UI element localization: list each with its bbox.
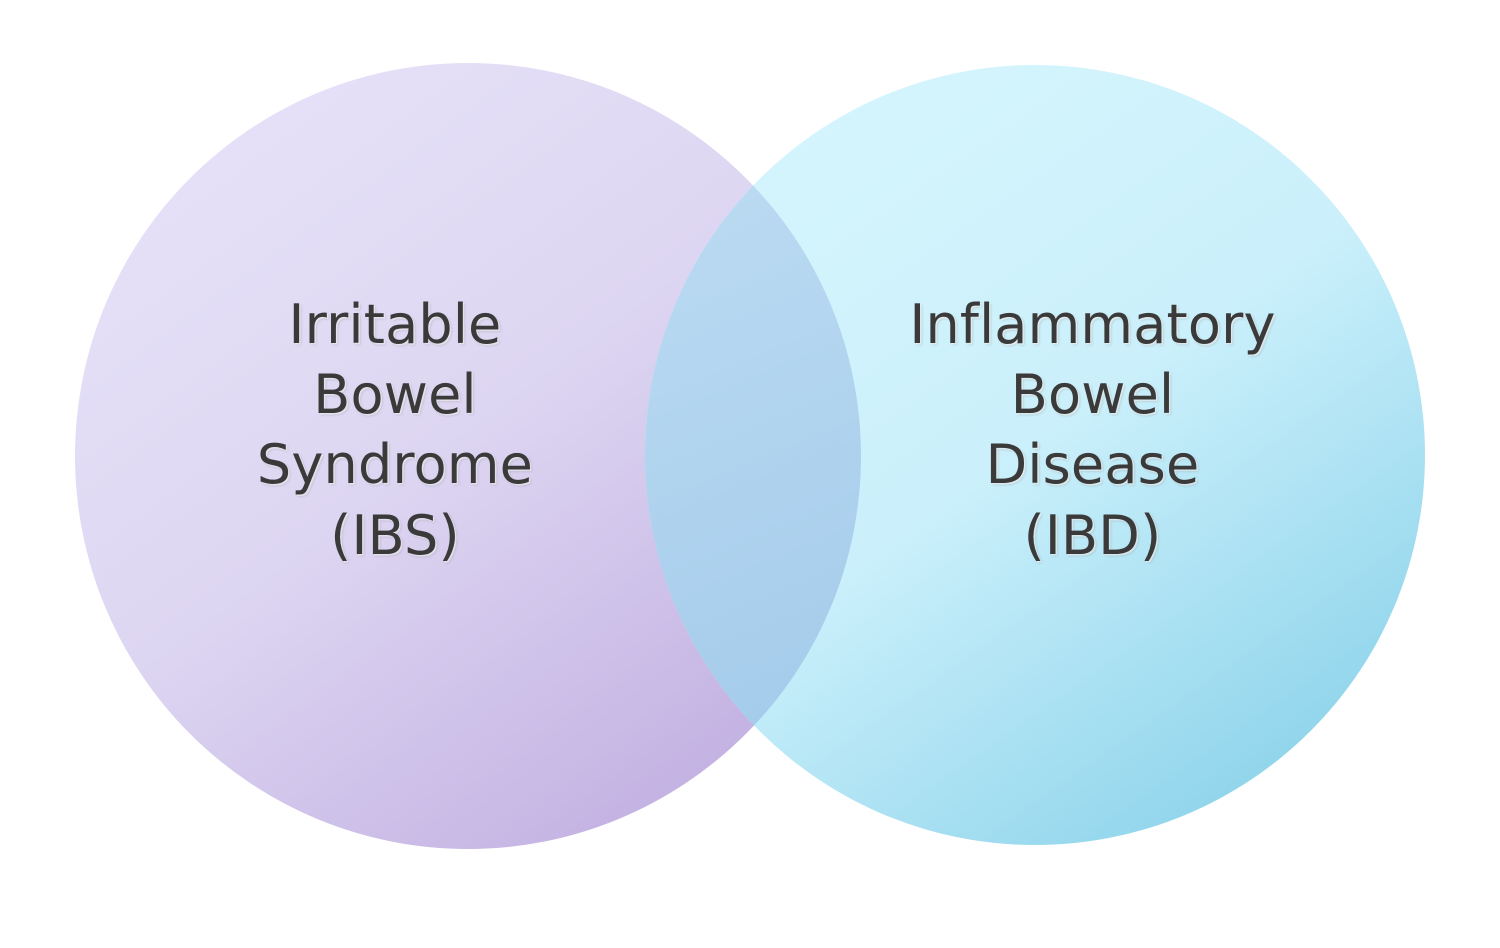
set-label-ibs: Irritable Bowel Syndrome (IBS)	[160, 290, 630, 571]
venn-diagram-canvas: Irritable Bowel Syndrome (IBS) Inflammat…	[0, 0, 1500, 948]
set-label-ibd: Inflammatory Bowel Disease (IBD)	[800, 290, 1385, 571]
